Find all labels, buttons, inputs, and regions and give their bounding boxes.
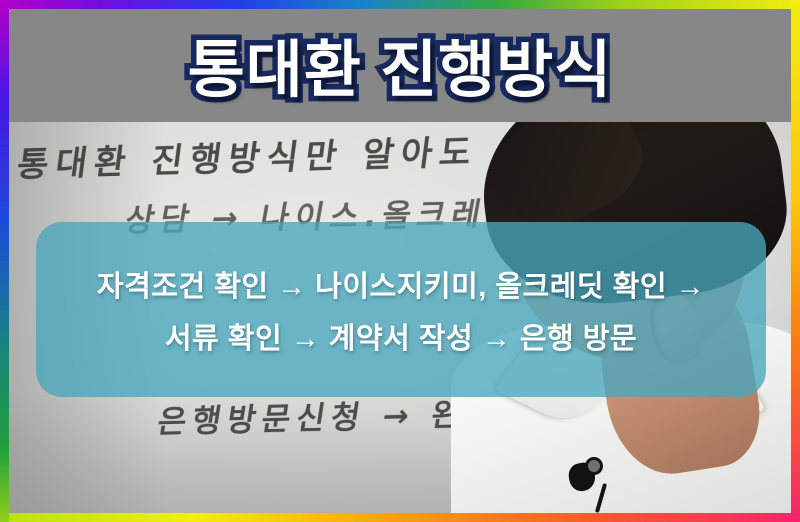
page-title: 통대환 진행방식 — [9, 9, 791, 122]
video-thumbnail: 통대환 진행방식만 알아도 사기 피할 상담 → 나이스.올크레딧 → 서류 은… — [0, 0, 800, 522]
header-band: 통대환 진행방식 — [9, 9, 791, 122]
caption-overlay: 자격조건 확인 → 나이스지키미, 올크레딧 확인 → 서류 확인 → 계약서 … — [36, 222, 766, 397]
caption-line-1: 자격조건 확인 → 나이스지키미, 올크레딧 확인 → — [97, 263, 705, 305]
frame-border-right — [791, 0, 800, 522]
frame-border-left — [0, 0, 9, 522]
caption-line-2: 서류 확인 → 계약서 작성 → 은행 방문 — [165, 315, 637, 357]
thumbnail-content: 통대환 진행방식만 알아도 사기 피할 상담 → 나이스.올크레딧 → 서류 은… — [9, 9, 791, 513]
background-photo: 통대환 진행방식만 알아도 사기 피할 상담 → 나이스.올크레딧 → 서류 은… — [9, 122, 791, 513]
frame-border-top — [0, 0, 800, 9]
microphone-clip-icon — [585, 457, 603, 475]
frame-border-bottom — [0, 513, 800, 522]
